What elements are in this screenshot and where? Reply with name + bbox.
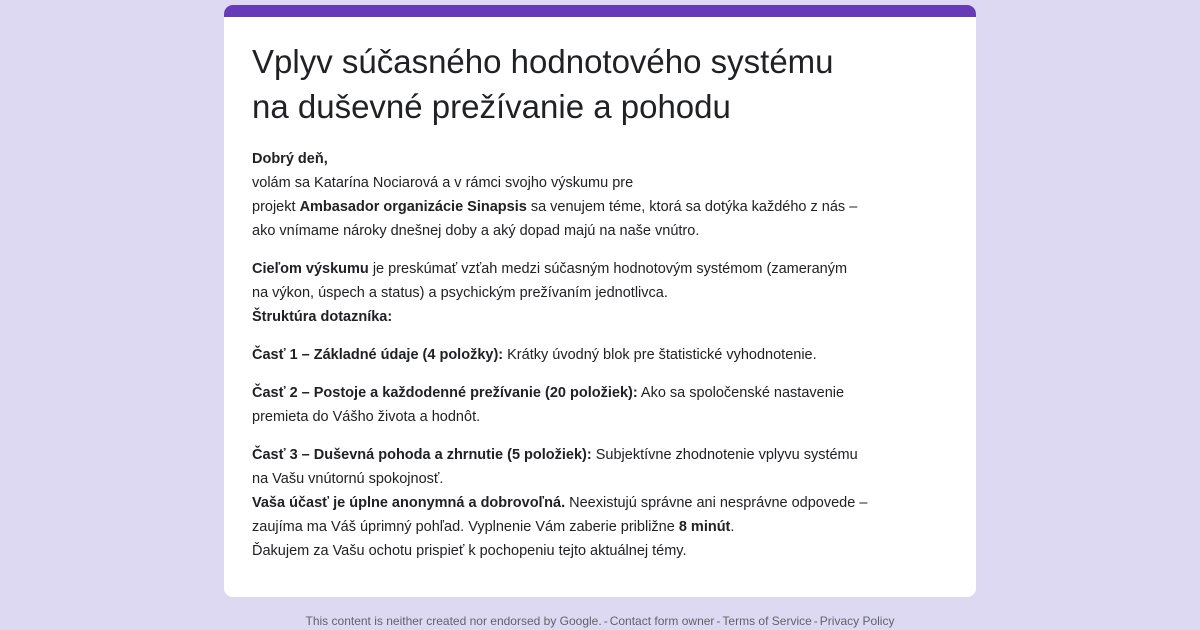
- intro-line-2-suffix: sa venujem téme, ktorá sa dotýka každého…: [527, 199, 857, 215]
- accent-bar: [224, 5, 976, 17]
- intro-line-2-prefix: projekt: [252, 199, 300, 215]
- footer-separator-1: -: [602, 614, 610, 628]
- part-2-line-1: Časť 2 – Postoje a každodenné prežívanie…: [252, 381, 948, 405]
- part-2-label: Časť 2 – Postoje a každodenné prežívanie…: [252, 385, 638, 401]
- footer-disclaimer: This content is neither created nor endo…: [306, 614, 602, 628]
- greeting-line: Dobrý deň,: [252, 147, 948, 171]
- footer-link-privacy-policy[interactable]: Privacy Policy: [820, 614, 895, 628]
- duration-suffix: .: [730, 519, 734, 535]
- part-1-label: Časť 1 – Základné údaje (4 položky):: [252, 347, 503, 363]
- part-1-text: Krátky úvodný blok pre štatistické vyhod…: [503, 347, 817, 363]
- part-1-line: Časť 1 – Základné údaje (4 položky): Krá…: [252, 343, 948, 367]
- part-3-line-1: Časť 3 – Duševná pohoda a zhrnutie (5 po…: [252, 443, 948, 467]
- footer-link-contact-form-owner[interactable]: Contact form owner: [610, 614, 715, 628]
- duration-line: zaujíma ma Váš úprimný pohľad. Vyplnenie…: [252, 515, 948, 539]
- part-3-line-2: na Vašu vnútornú spokojnosť.: [252, 467, 948, 491]
- description-block-part-3: Časť 3 – Duševná pohoda a zhrnutie (5 po…: [252, 443, 948, 563]
- footer-separator-3: -: [812, 614, 820, 628]
- part-2-line-2: premieta do Vášho života a hodnôt.: [252, 405, 948, 429]
- form-card-body: Vplyv súčasného hodnotového systému na d…: [224, 17, 976, 597]
- part-3-text: Subjektívne zhodnotenie vplyvu systému: [592, 447, 858, 463]
- form-description: Dobrý deň, volám sa Katarína Nociarová a…: [252, 147, 948, 563]
- part-2-text: Ako sa spoločenské nastavenie: [638, 385, 844, 401]
- intro-line-3: ako vnímame nároky dnešnej doby a aký do…: [252, 219, 948, 243]
- goal-label: Cieľom výskumu: [252, 261, 369, 277]
- description-block-greeting: Dobrý deň, volám sa Katarína Nociarová a…: [252, 147, 948, 243]
- goal-line-1-rest: je preskúmať vzťah medzi súčasným hodnot…: [369, 261, 847, 277]
- footer-link-terms-of-service[interactable]: Terms of Service: [722, 614, 811, 628]
- structure-heading: Štruktúra dotazníka:: [252, 305, 948, 329]
- intro-line-1: volám sa Katarína Nociarová a v rámci sv…: [252, 171, 948, 195]
- description-block-goal: Cieľom výskumu je preskúmať vzťah medzi …: [252, 257, 948, 329]
- form-card: Vplyv súčasného hodnotového systému na d…: [224, 5, 976, 597]
- anonymity-label: Vaša účasť je úplne anonymná a dobrovoľn…: [252, 495, 565, 511]
- project-name: Ambasador organizácie Sinapsis: [300, 199, 527, 215]
- google-forms-page: Vplyv súčasného hodnotového systému na d…: [0, 0, 1200, 630]
- intro-line-2: projekt Ambasador organizácie Sinapsis s…: [252, 195, 948, 219]
- description-block-part-1: Časť 1 – Základné údaje (4 položky): Krá…: [252, 343, 948, 367]
- form-footer: This content is neither created nor endo…: [0, 612, 1200, 630]
- goal-line-1: Cieľom výskumu je preskúmať vzťah medzi …: [252, 257, 948, 281]
- duration-prefix: zaujíma ma Váš úprimný pohľad. Vyplnenie…: [252, 519, 679, 535]
- form-title-line-2: na duševné prežívanie a pohodu: [252, 84, 942, 129]
- anonymity-line: Vaša účasť je úplne anonymná a dobrovoľn…: [252, 491, 948, 515]
- anonymity-rest: Neexistujú správne ani nesprávne odpoved…: [565, 495, 867, 511]
- thanks-line: Ďakujem za Vašu ochotu prispieť k pochop…: [252, 539, 948, 563]
- part-3-label: Časť 3 – Duševná pohoda a zhrnutie (5 po…: [252, 447, 592, 463]
- description-block-part-2: Časť 2 – Postoje a každodenné prežívanie…: [252, 381, 948, 429]
- form-title-line-1: Vplyv súčasného hodnotového systému: [252, 39, 942, 84]
- goal-line-2: na výkon, úspech a status) a psychickým …: [252, 281, 948, 305]
- duration-value: 8 minút: [679, 519, 731, 535]
- form-title: Vplyv súčasného hodnotového systému na d…: [252, 39, 942, 129]
